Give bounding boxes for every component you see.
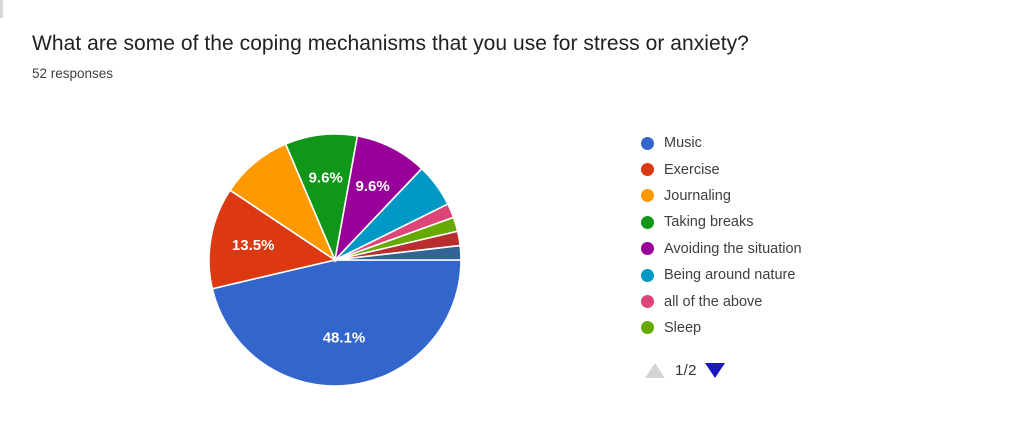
legend-item-label: Being around nature: [664, 266, 795, 284]
legend-swatch-icon: [641, 321, 654, 334]
legend-item[interactable]: Sleep: [641, 315, 961, 341]
pie-slice-label: 9.6%: [355, 178, 389, 195]
legend-swatch-icon: [641, 189, 654, 202]
pie-slice-label: 13.5%: [232, 237, 275, 254]
pie-chart[interactable]: 48.1%13.5%9.6%9.6%: [185, 115, 495, 405]
triangle-up-icon[interactable]: [645, 363, 665, 378]
legend-item[interactable]: Being around nature: [641, 262, 961, 288]
legend-item[interactable]: Journaling: [641, 183, 961, 209]
legend-item-label: Sleep: [664, 319, 701, 337]
legend-item-label: Avoiding the situation: [664, 240, 802, 258]
legend-swatch-icon: [641, 137, 654, 150]
pie-chart-svg[interactable]: 48.1%13.5%9.6%9.6%: [185, 115, 495, 405]
pie-slice-label: 9.6%: [309, 169, 343, 186]
page-title: What are some of the coping mechanisms t…: [32, 30, 862, 58]
triangle-down-icon[interactable]: [705, 363, 725, 378]
question-header: What are some of the coping mechanisms t…: [32, 30, 862, 84]
legend-swatch-icon: [641, 269, 654, 282]
legend-item-label: Music: [664, 134, 702, 152]
legend-item[interactable]: Music: [641, 130, 961, 156]
response-count: 52 responses: [32, 64, 862, 84]
legend-item[interactable]: Exercise: [641, 156, 961, 182]
legend-swatch-icon: [641, 163, 654, 176]
legend-item-label: Taking breaks: [664, 213, 753, 231]
legend-swatch-icon: [641, 216, 654, 229]
pie-slice-label: 48.1%: [323, 330, 366, 347]
legend-swatch-icon: [641, 242, 654, 255]
pager[interactable]: 1/2: [645, 358, 725, 382]
legend-item[interactable]: all of the above: [641, 288, 961, 314]
legend-item-label: Exercise: [664, 161, 720, 179]
chart-area: 48.1%13.5%9.6%9.6% MusicExerciseJournali…: [0, 100, 1024, 420]
legend-item-label: Journaling: [664, 187, 731, 205]
legend-swatch-icon: [641, 295, 654, 308]
legend: MusicExerciseJournalingTaking breaksAvoi…: [641, 130, 961, 341]
legend-item[interactable]: Taking breaks: [641, 209, 961, 235]
legend-item-label: all of the above: [664, 293, 762, 311]
chart-card: What are some of the coping mechanisms t…: [0, 0, 1024, 430]
legend-item[interactable]: Avoiding the situation: [641, 236, 961, 262]
pager-position: 1/2: [675, 362, 697, 379]
